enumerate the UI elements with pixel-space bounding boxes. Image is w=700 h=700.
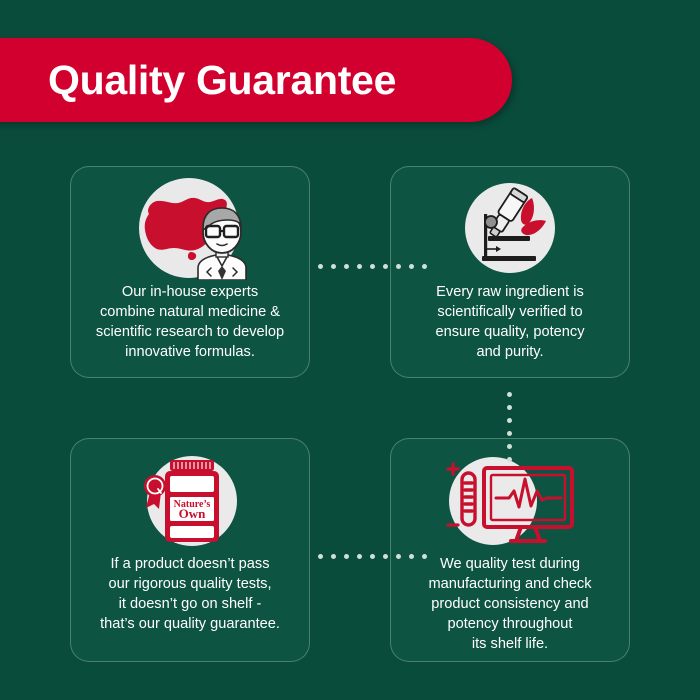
bottle-label-line2: Own [179, 506, 207, 521]
connector-dot [507, 444, 512, 449]
monitor-ecg-thermometer-icon [443, 449, 577, 553]
connector-dot [507, 418, 512, 423]
connector-dot [507, 431, 512, 436]
connector-dot [383, 264, 388, 269]
connector-dot [344, 264, 349, 269]
connector-dot [383, 554, 388, 559]
microscope-leaf-icon [458, 175, 562, 281]
connector-dot [409, 264, 414, 269]
connector-dot [507, 405, 512, 410]
connector-dot [331, 554, 336, 559]
connector-dot [357, 264, 362, 269]
connector-dot [344, 554, 349, 559]
card-raw-ingredient-verification: Every raw ingredient is scientifically v… [390, 166, 630, 378]
connector-dot [370, 554, 375, 559]
australia-map-scientist-icon [115, 175, 265, 281]
card-text: Every raw ingredient is scientifically v… [425, 283, 594, 363]
connector-dot [422, 554, 427, 559]
connector-dot [396, 554, 401, 559]
connector-dot [396, 264, 401, 269]
connector-dot [318, 554, 323, 559]
connector-dot [507, 457, 512, 462]
connector-dot [357, 554, 362, 559]
connector-top [318, 264, 427, 269]
connector-dot [422, 264, 427, 269]
connector-bottom [318, 554, 427, 559]
connector-dot [370, 264, 375, 269]
connector-right [507, 392, 512, 462]
natures-own-bottle-award-icon: Nature’s Own [134, 449, 246, 553]
connector-dot [318, 264, 323, 269]
connector-dot [409, 554, 414, 559]
feature-card-grid: Our in-house experts combine natural med… [0, 0, 700, 700]
card-text: Our in-house experts combine natural med… [86, 283, 294, 363]
card-in-house-experts: Our in-house experts combine natural med… [70, 166, 310, 378]
connector-dot [331, 264, 336, 269]
card-manufacturing-quality-test: We quality test during manufacturing and… [390, 438, 630, 662]
card-text: We quality test during manufacturing and… [418, 555, 601, 655]
card-quality-tests-shelf: Nature’s Own If a product doesn’t pass o… [70, 438, 310, 662]
connector-dot [507, 392, 512, 397]
card-text: If a product doesn’t pass our rigorous q… [90, 555, 290, 635]
